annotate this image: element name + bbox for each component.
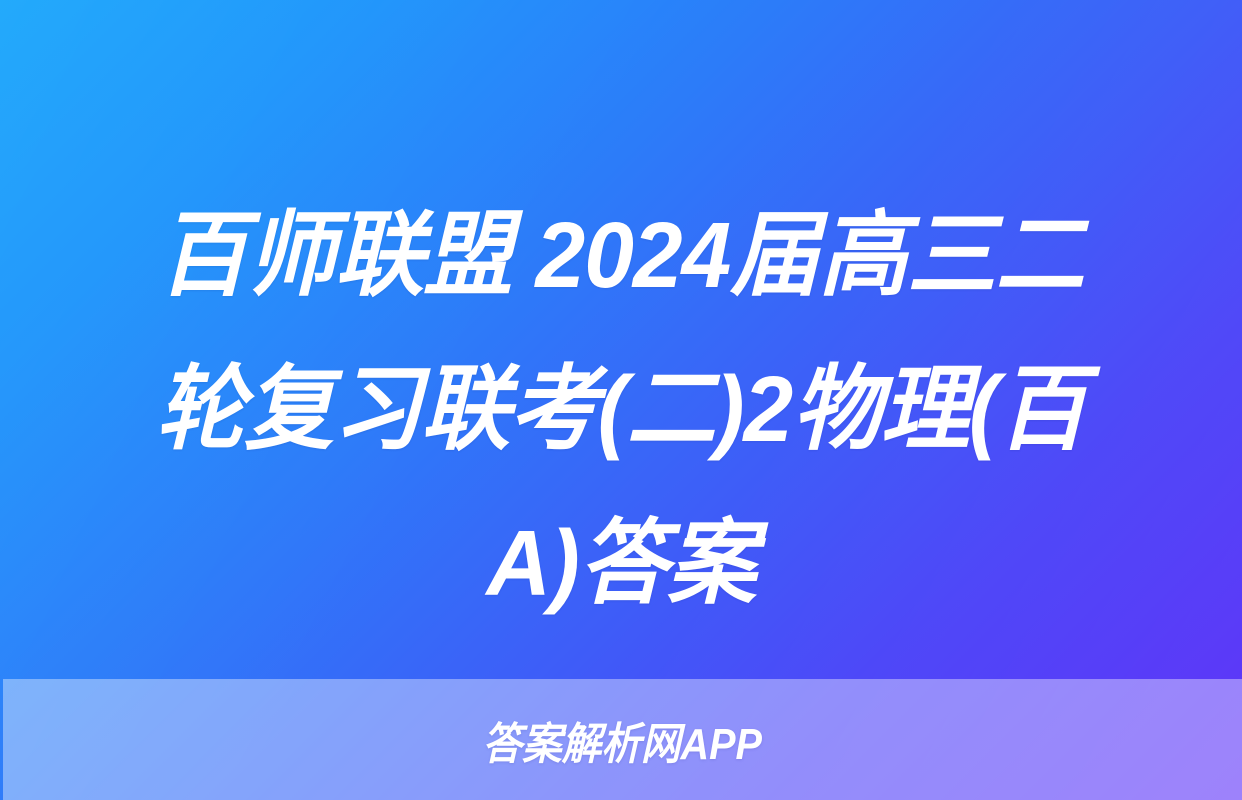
banner-title-line-2: 轮复习联考(二)2物理(百 [100,332,1143,486]
answer-banner: 百师联盟 2024届高三二 轮复习联考(二)2物理(百 A)答案 答案解析网AP… [0,0,1242,800]
banner-title-block: 百师联盟 2024届高三二 轮复习联考(二)2物理(百 A)答案 [0,178,1242,640]
banner-title-line-3: A)答案 [100,486,1143,640]
footer-watermark-band: 答案解析网APP [3,679,1242,800]
app-watermark-label: 答案解析网APP [483,708,762,772]
banner-title-line-1: 百师联盟 2024届高三二 [100,178,1143,332]
